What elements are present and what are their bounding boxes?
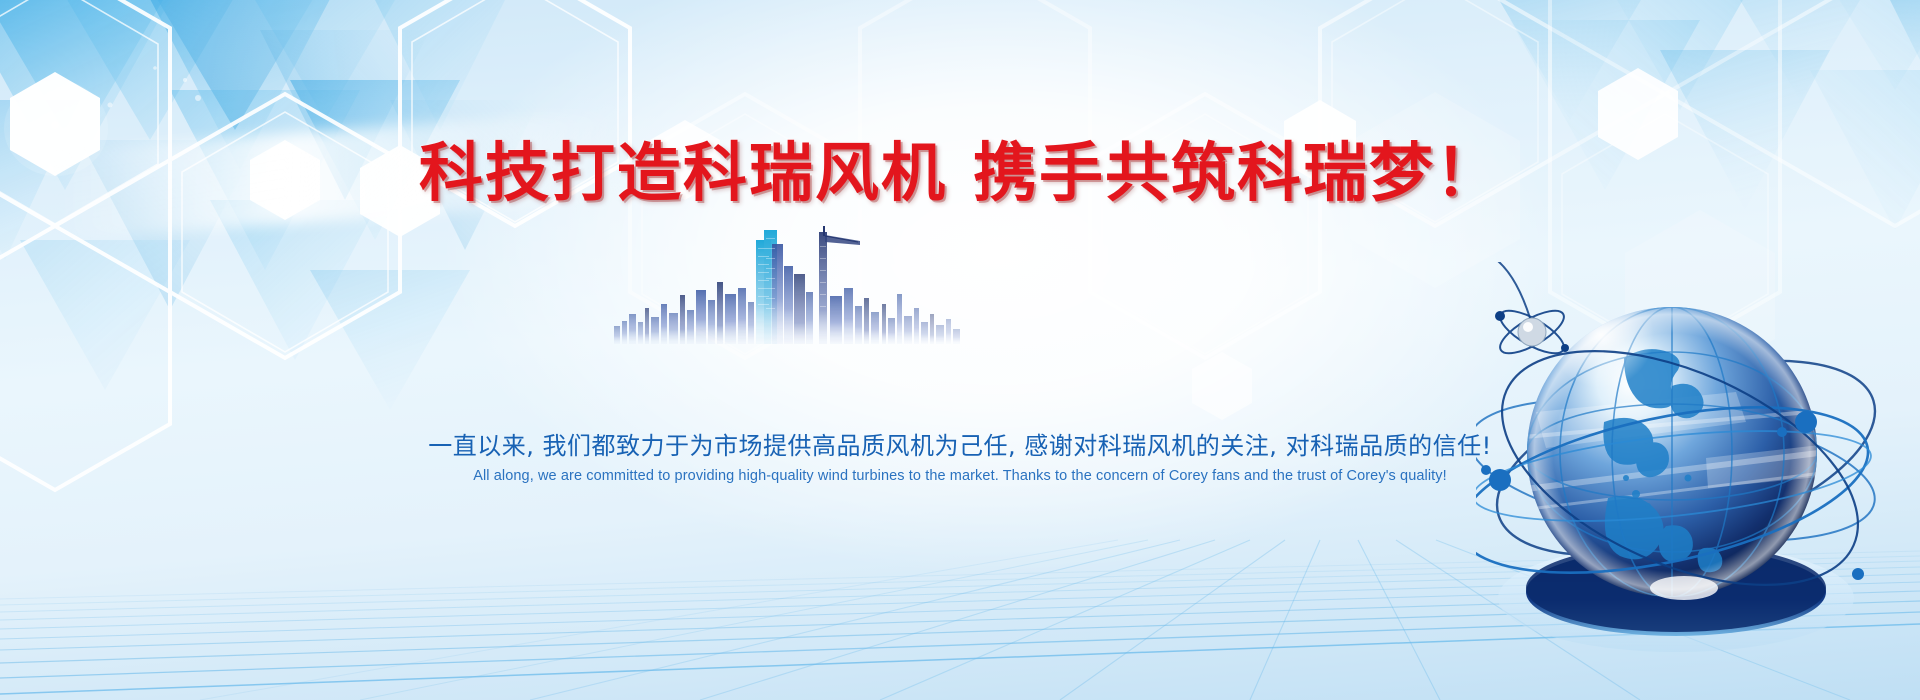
- headline-part-2: 携手共筑科瑞梦！: [973, 137, 1501, 211]
- subtitle-chinese: 一直以来, 我们都致力于为市场提供高品质风机为己任, 感谢对科瑞风机的关注, 对…: [0, 426, 1920, 461]
- subtitle-english: All along, we are committed to providing…: [0, 468, 1920, 484]
- city-skyline-silhouette: [612, 222, 962, 344]
- headline-part-1: 科技打造科瑞风机: [419, 137, 947, 211]
- promo-banner: 科技打造科瑞风机携手共筑科瑞梦！ 一直以来, 我们都致力于为市场提供高品质风机为…: [0, 0, 1920, 700]
- page-title: 科技打造科瑞风机携手共筑科瑞梦！: [0, 122, 1920, 214]
